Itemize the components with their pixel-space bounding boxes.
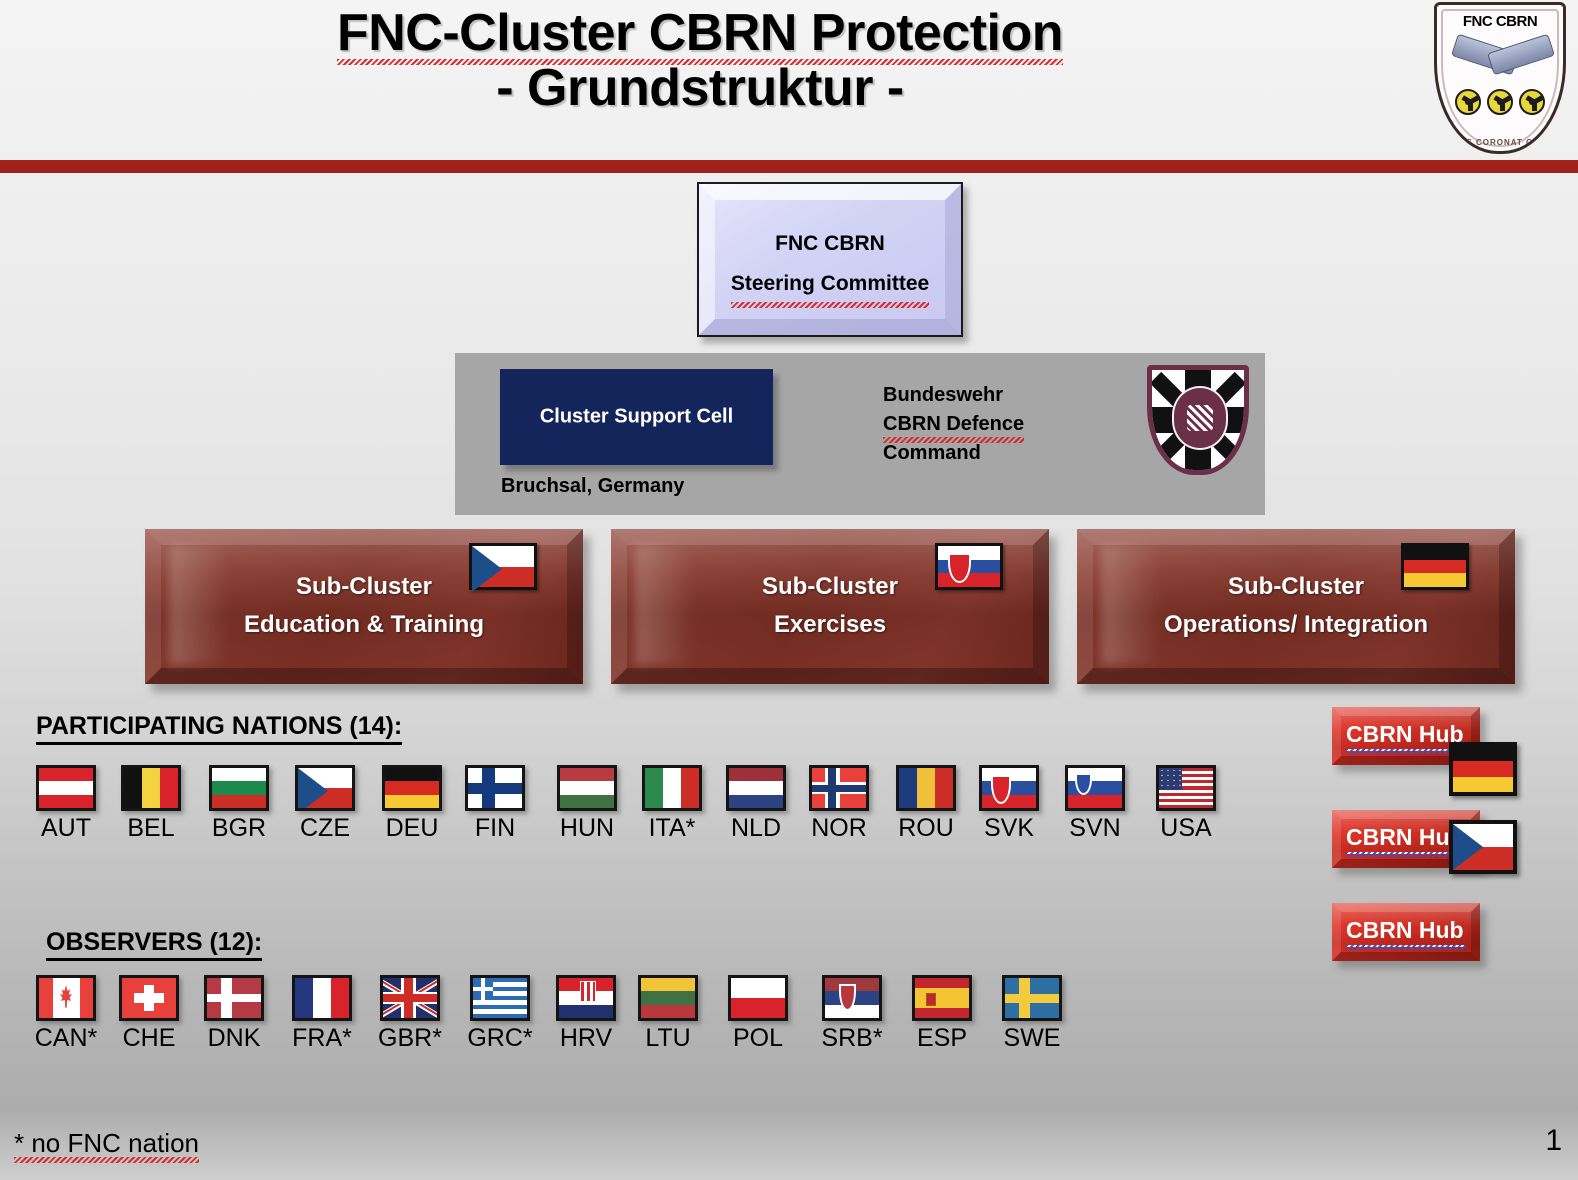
- flag-nld-icon: [726, 765, 786, 811]
- flag-cze-icon: [469, 543, 537, 590]
- nation-item-rou: ROU: [882, 765, 970, 843]
- flag-rou-icon: [896, 765, 956, 811]
- flag-deu-icon: [1401, 543, 1469, 590]
- nation-item-dnk: DNK: [190, 975, 278, 1053]
- flag-cze-icon: [1449, 820, 1517, 874]
- nation-code-label: NLD: [712, 814, 800, 843]
- flag-ita-icon: [642, 765, 702, 811]
- flag-fra-icon: [292, 975, 352, 1021]
- flag-hun-icon: [557, 765, 617, 811]
- nation-code-label: ITA*: [628, 814, 716, 843]
- nation-item-swe: SWE: [988, 975, 1076, 1053]
- bundeswehr-line-3: Command: [883, 439, 1024, 468]
- nation-item-fra: FRA*: [278, 975, 366, 1053]
- subcluster-2-line-2: Exercises: [611, 607, 1049, 646]
- nation-code-label: CZE: [281, 814, 369, 843]
- crest-title-text: FNC CBRN: [1437, 13, 1563, 30]
- subcluster-1-line-2: Education & Training: [145, 607, 583, 646]
- flag-svk-icon: [935, 543, 1003, 590]
- nation-code-label: SVK: [965, 814, 1053, 843]
- steering-committee-line-1: FNC CBRN: [699, 224, 961, 264]
- nation-code-label: SRB*: [808, 1024, 896, 1053]
- cbrn-hub-2-spellcheck-underline: [1346, 852, 1466, 857]
- nation-item-usa: USA: [1142, 765, 1230, 843]
- nation-code-label: GRC*: [456, 1024, 544, 1053]
- cbrn-hub-1-label: CBRN Hub: [1346, 721, 1464, 751]
- nation-code-label: FRA*: [278, 1024, 366, 1053]
- nation-item-svn: SVN: [1051, 765, 1139, 843]
- nation-code-label: DNK: [190, 1024, 278, 1053]
- page-title: FNC-Cluster CBRN Protection - Grundstruk…: [0, 6, 1400, 116]
- nation-item-hrv: HRV: [542, 975, 630, 1053]
- participating-nations-title: PARTICIPATING NATIONS (14):: [36, 712, 402, 745]
- cluster-support-cell-label: Cluster Support Cell: [500, 406, 773, 429]
- nation-code-label: CHE: [105, 1024, 193, 1053]
- flag-che-icon: [119, 975, 179, 1021]
- cbrn-hub-3-label: CBRN Hub: [1346, 917, 1464, 947]
- nation-code-label: BEL: [107, 814, 195, 843]
- subcluster-exercises[interactable]: Sub-Cluster Exercises: [611, 529, 1049, 684]
- hazard-symbols-icon: [1437, 89, 1563, 115]
- flag-bgr-icon: [209, 765, 269, 811]
- flag-svk-icon: [979, 765, 1039, 811]
- bundeswehr-crest-icon: [1147, 365, 1249, 475]
- cbrn-hub-3-spellcheck-underline: [1346, 945, 1466, 950]
- subcluster-education-training[interactable]: Sub-Cluster Education & Training: [145, 529, 583, 684]
- flag-swe-icon: [1002, 975, 1062, 1021]
- flag-pol-icon: [728, 975, 788, 1021]
- nation-code-label: AUT: [22, 814, 110, 843]
- flag-gbr-icon: [380, 975, 440, 1021]
- nation-item-grc: GRC*: [456, 975, 544, 1053]
- nation-item-gbr: GBR*: [366, 975, 454, 1053]
- support-band: Cluster Support Cell Bruchsal, Germany B…: [455, 353, 1265, 515]
- nation-code-label: SWE: [988, 1024, 1076, 1053]
- footnote-text: * no FNC nation: [14, 1128, 199, 1159]
- nation-code-label: DEU: [368, 814, 456, 843]
- nation-code-label: BGR: [195, 814, 283, 843]
- flag-can-icon: [36, 975, 96, 1021]
- nation-item-srb: SRB*: [808, 975, 896, 1053]
- cbrn-hub-3[interactable]: CBRN Hub: [1332, 903, 1480, 961]
- bundeswehr-line-2: CBRN Defence: [883, 410, 1024, 439]
- nation-item-can: CAN*: [22, 975, 110, 1053]
- flag-deu-icon: [1449, 742, 1517, 796]
- bundeswehr-command-label: Bundeswehr CBRN Defence Command: [883, 381, 1024, 468]
- title-line-2: - Grundstruktur -: [0, 61, 1400, 116]
- flag-svn-icon: [1065, 765, 1125, 811]
- cluster-support-cell-box[interactable]: Cluster Support Cell: [500, 369, 773, 465]
- nation-code-label: NOR: [795, 814, 883, 843]
- flag-deu-icon: [382, 765, 442, 811]
- subcluster-3-line-2: Operations/ Integration: [1077, 607, 1515, 646]
- steering-committee-box[interactable]: FNC CBRN Steering Committee: [697, 182, 963, 337]
- steering-committee-label: FNC CBRN Steering Committee: [699, 224, 961, 304]
- nation-item-pol: POL: [714, 975, 802, 1053]
- flag-grc-icon: [470, 975, 530, 1021]
- crossed-gloves-icon: [1453, 37, 1553, 83]
- nation-item-nor: NOR: [795, 765, 883, 843]
- nation-item-ita: ITA*: [628, 765, 716, 843]
- title-spellcheck-word: FNC-Cluster CBRN Protection: [337, 6, 1063, 61]
- nation-item-esp: ESP: [898, 975, 986, 1053]
- nation-code-label: HRV: [542, 1024, 630, 1053]
- nation-item-deu: DEU: [368, 765, 456, 843]
- nation-code-label: HUN: [543, 814, 631, 843]
- observers-title: OBSERVERS (12):: [46, 928, 262, 961]
- cluster-support-cell-location: Bruchsal, Germany: [501, 475, 684, 498]
- nation-item-aut: AUT: [22, 765, 110, 843]
- flag-bel-icon: [121, 765, 181, 811]
- flag-srb-icon: [822, 975, 882, 1021]
- nation-item-nld: NLD: [712, 765, 800, 843]
- nation-code-label: USA: [1142, 814, 1230, 843]
- footnote: * no FNC nation: [14, 1128, 199, 1159]
- flag-fin-icon: [465, 765, 525, 811]
- header-divider: [0, 160, 1578, 173]
- nation-code-label: ESP: [898, 1024, 986, 1053]
- nation-code-label: POL: [714, 1024, 802, 1053]
- nation-item-cze: CZE: [281, 765, 369, 843]
- nation-item-hun: HUN: [543, 765, 631, 843]
- nation-code-label: SVN: [1051, 814, 1139, 843]
- flag-usa-icon: [1156, 765, 1216, 811]
- nation-item-bgr: BGR: [195, 765, 283, 843]
- flag-cze-icon: [295, 765, 355, 811]
- nation-code-label: GBR*: [366, 1024, 454, 1053]
- flag-dnk-icon: [204, 975, 264, 1021]
- nation-item-bel: BEL: [107, 765, 195, 843]
- nation-item-svk: SVK: [965, 765, 1053, 843]
- flag-aut-icon: [36, 765, 96, 811]
- flag-hrv-icon: [556, 975, 616, 1021]
- steering-committee-line-2: Steering Committee: [731, 264, 929, 304]
- bundeswehr-line-1: Bundeswehr: [883, 381, 1024, 410]
- nation-code-label: ROU: [882, 814, 970, 843]
- nation-item-ltu: LTU: [624, 975, 712, 1053]
- flag-ltu-icon: [638, 975, 698, 1021]
- crest-motto-text: FINIS CORONAT OPUS: [1437, 138, 1563, 147]
- subcluster-operations-integration[interactable]: Sub-Cluster Operations/ Integration: [1077, 529, 1515, 684]
- nation-item-che: CHE: [105, 975, 193, 1053]
- title-line-1: FNC-Cluster CBRN Protection: [0, 6, 1400, 61]
- cbrn-hub-2-label: CBRN Hub: [1346, 824, 1464, 854]
- nation-code-label: FIN: [451, 814, 539, 843]
- nation-item-fin: FIN: [451, 765, 539, 843]
- nation-code-label: LTU: [624, 1024, 712, 1053]
- flag-esp-icon: [912, 975, 972, 1021]
- nation-code-label: CAN*: [22, 1024, 110, 1053]
- flag-nor-icon: [809, 765, 869, 811]
- cbrn-hub-1-spellcheck-underline: [1346, 749, 1466, 754]
- page-number: 1: [1545, 1124, 1562, 1158]
- fnc-cbrn-crest-icon: FNC CBRN FINIS CORONAT OPUS: [1434, 2, 1566, 154]
